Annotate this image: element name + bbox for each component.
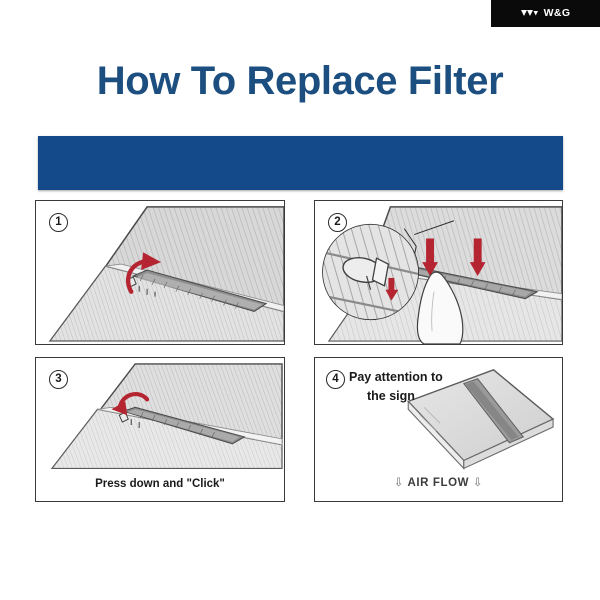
step-panel-3: 3 Press down and "Click" (35, 357, 285, 502)
step-4-caption-line1: Pay attention to (349, 370, 443, 384)
airflow-label: AIR FLOW (407, 477, 469, 489)
arrow-down-outline-icon: ⇩ (473, 477, 483, 489)
step-4-caption-line2: the sign (349, 387, 499, 406)
step-panel-2: 2 (314, 200, 563, 345)
airflow-label-group: ⇩ AIR FLOW ⇩ (315, 475, 562, 489)
arrow-down-outline-icon: ⇩ (394, 477, 404, 489)
instruction-sheet: W&G How To Replace Filter (0, 0, 600, 600)
brand-name: W&G (544, 8, 571, 19)
cabin-air-filter-lift-latch-diagram (36, 201, 284, 344)
header-blue-band (38, 136, 563, 190)
finger-pressing-filter-clip-diagram (315, 201, 562, 344)
triple-triangle-logo-icon (521, 5, 540, 23)
step-panel-1: 1 (35, 200, 285, 345)
step-panel-4: 4 Pay attention to the sign ⇩ AIR FLOW ⇩ (314, 357, 563, 502)
page-title: How To Replace Filter (0, 61, 600, 101)
step-4-caption: Pay attention to the sign (349, 368, 499, 407)
step-badge-3: 3 (49, 370, 68, 389)
step-3-caption: Press down and "Click" (36, 478, 284, 490)
brand-badge: W&G (491, 0, 600, 27)
magnifier-detail-circle-icon (323, 225, 418, 320)
step-badge-2: 2 (328, 213, 347, 232)
step-badge-4: 4 (326, 370, 345, 389)
step-badge-1: 1 (49, 213, 68, 232)
